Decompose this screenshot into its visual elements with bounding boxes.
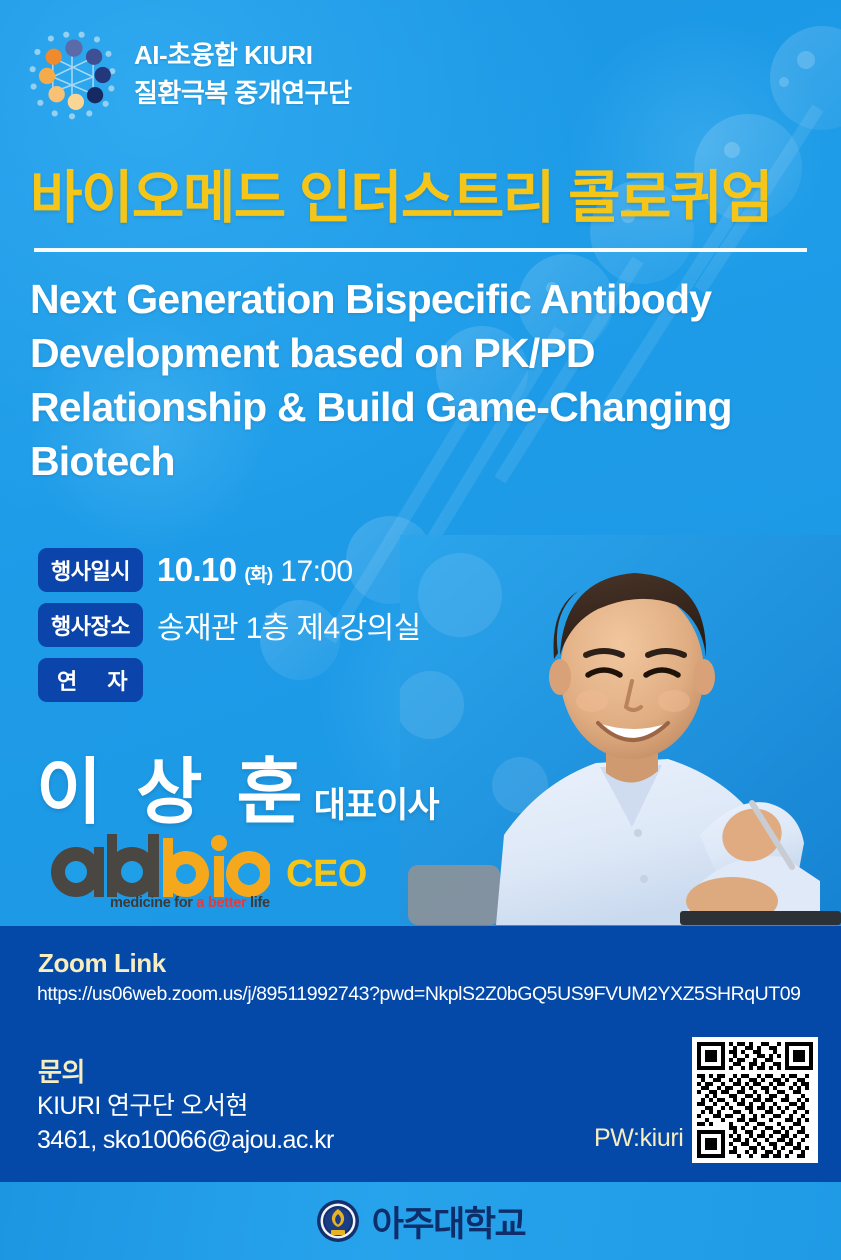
event-info: 행사일시 10.10 (화) 17:00 행사장소 송재관 1층 제4강의실 연… <box>38 548 421 713</box>
network-nodes-icon <box>24 27 120 123</box>
event-date-value: 10.10 (화) 17:00 <box>157 551 353 589</box>
poster-footer: 아주대학교 <box>0 1182 841 1260</box>
title-divider <box>34 248 807 252</box>
company-logo-block: medicine for a better life CEO <box>48 832 367 910</box>
ajou-university-seal-icon <box>316 1199 360 1243</box>
brand-line-1: AI-초융합 KIURI <box>134 37 352 75</box>
speaker-photo <box>400 535 841 925</box>
speaker-badge: 연 자 <box>38 658 143 702</box>
brand-text: AI-초융합 KIURI 질환극복 중개연구단 <box>134 37 352 112</box>
company-tagline: medicine for a better life <box>110 895 270 911</box>
contact-label: 문의 <box>38 1052 85 1089</box>
brand-line-2: 질환극복 중개연구단 <box>134 75 352 113</box>
event-venue-badge: 행사장소 <box>38 603 143 647</box>
event-venue-value: 송재관 1층 제4강의실 <box>157 603 421 647</box>
zoom-password: PW:kiuri <box>594 1124 683 1153</box>
ablbio-logo: medicine for a better life <box>48 832 270 910</box>
event-date-text: 10.10 <box>157 551 237 588</box>
contact-phone-email: 3461, sko10066@ajou.ac.kr <box>37 1124 334 1158</box>
poster-english-title: Next Generation Bispecific Antibody Deve… <box>30 272 770 488</box>
poster: AI-초융합 KIURI 질환극복 중개연구단 바이오메드 인더스트리 콜로퀴엄… <box>0 0 841 1260</box>
speaker-name-text: 이 상 훈 <box>36 753 310 833</box>
tagline-highlight: a better <box>196 895 246 911</box>
contact-details: KIURI 연구단 오서현 3461, sko10066@ajou.ac.kr <box>37 1090 334 1157</box>
event-time-text: 17:00 <box>280 555 352 588</box>
speaker-role-ceo: CEO <box>286 853 367 910</box>
speaker-name: 이 상 훈대표이사 <box>36 733 439 838</box>
event-venue-row: 행사장소 송재관 1층 제4강의실 <box>38 603 421 647</box>
speaker-position: 대표이사 <box>314 786 439 825</box>
poster-korean-title: 바이오메드 인더스트리 콜로퀴엄 <box>30 152 772 234</box>
tagline-post: life <box>246 895 269 911</box>
zoom-link-url[interactable]: https://us06web.zoom.us/j/89511992743?pw… <box>37 983 801 1006</box>
university-name: 아주대학교 <box>372 1196 526 1247</box>
contact-person: KIURI 연구단 오서현 <box>37 1090 334 1124</box>
event-day-of-week: (화) <box>244 565 272 586</box>
tagline-pre: medicine for <box>110 895 196 911</box>
event-date-badge: 행사일시 <box>38 548 143 592</box>
zoom-link-label: Zoom Link <box>38 948 166 979</box>
brand-header: AI-초융합 KIURI 질환극복 중개연구단 <box>24 27 352 123</box>
event-date-row: 행사일시 10.10 (화) 17:00 <box>38 548 421 592</box>
speaker-row: 연 자 <box>38 658 421 702</box>
zoom-qr-code[interactable] <box>692 1037 818 1163</box>
